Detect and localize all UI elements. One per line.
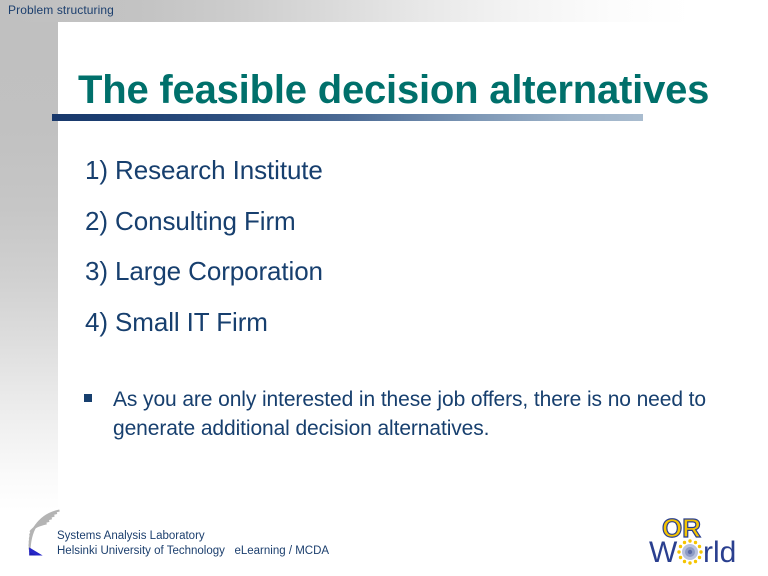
world-w-letter: W [649, 536, 678, 568]
slide-canvas: Problem structuring The feasible decisio… [0, 0, 768, 576]
square-bullet-icon [84, 394, 92, 402]
header-band [0, 0, 768, 22]
list-item: 1) Research Institute [85, 155, 323, 186]
footer-organization: Systems Analysis Laboratory Helsinki Uni… [57, 529, 329, 559]
footer-line-1: Systems Analysis Laboratory [57, 529, 329, 544]
sun-gear-icon [677, 539, 702, 564]
header-title: Problem structuring [8, 3, 114, 18]
list-item: 2) Consulting Firm [85, 206, 296, 237]
list-item: 4) Small IT Firm [85, 307, 268, 338]
title-underline-rule [52, 114, 643, 121]
slide-title: The feasible decision alternatives [78, 68, 709, 113]
bullet-paragraph-text: As you are only interested in these job … [113, 385, 738, 443]
or-world-logo: OR W [645, 512, 763, 568]
footer-line-2: Helsinki University of Technology eLearn… [57, 544, 329, 559]
list-item: 3) Large Corporation [85, 256, 323, 287]
world-rld-letters: rld [703, 536, 736, 568]
left-accent-strip [0, 22, 58, 510]
